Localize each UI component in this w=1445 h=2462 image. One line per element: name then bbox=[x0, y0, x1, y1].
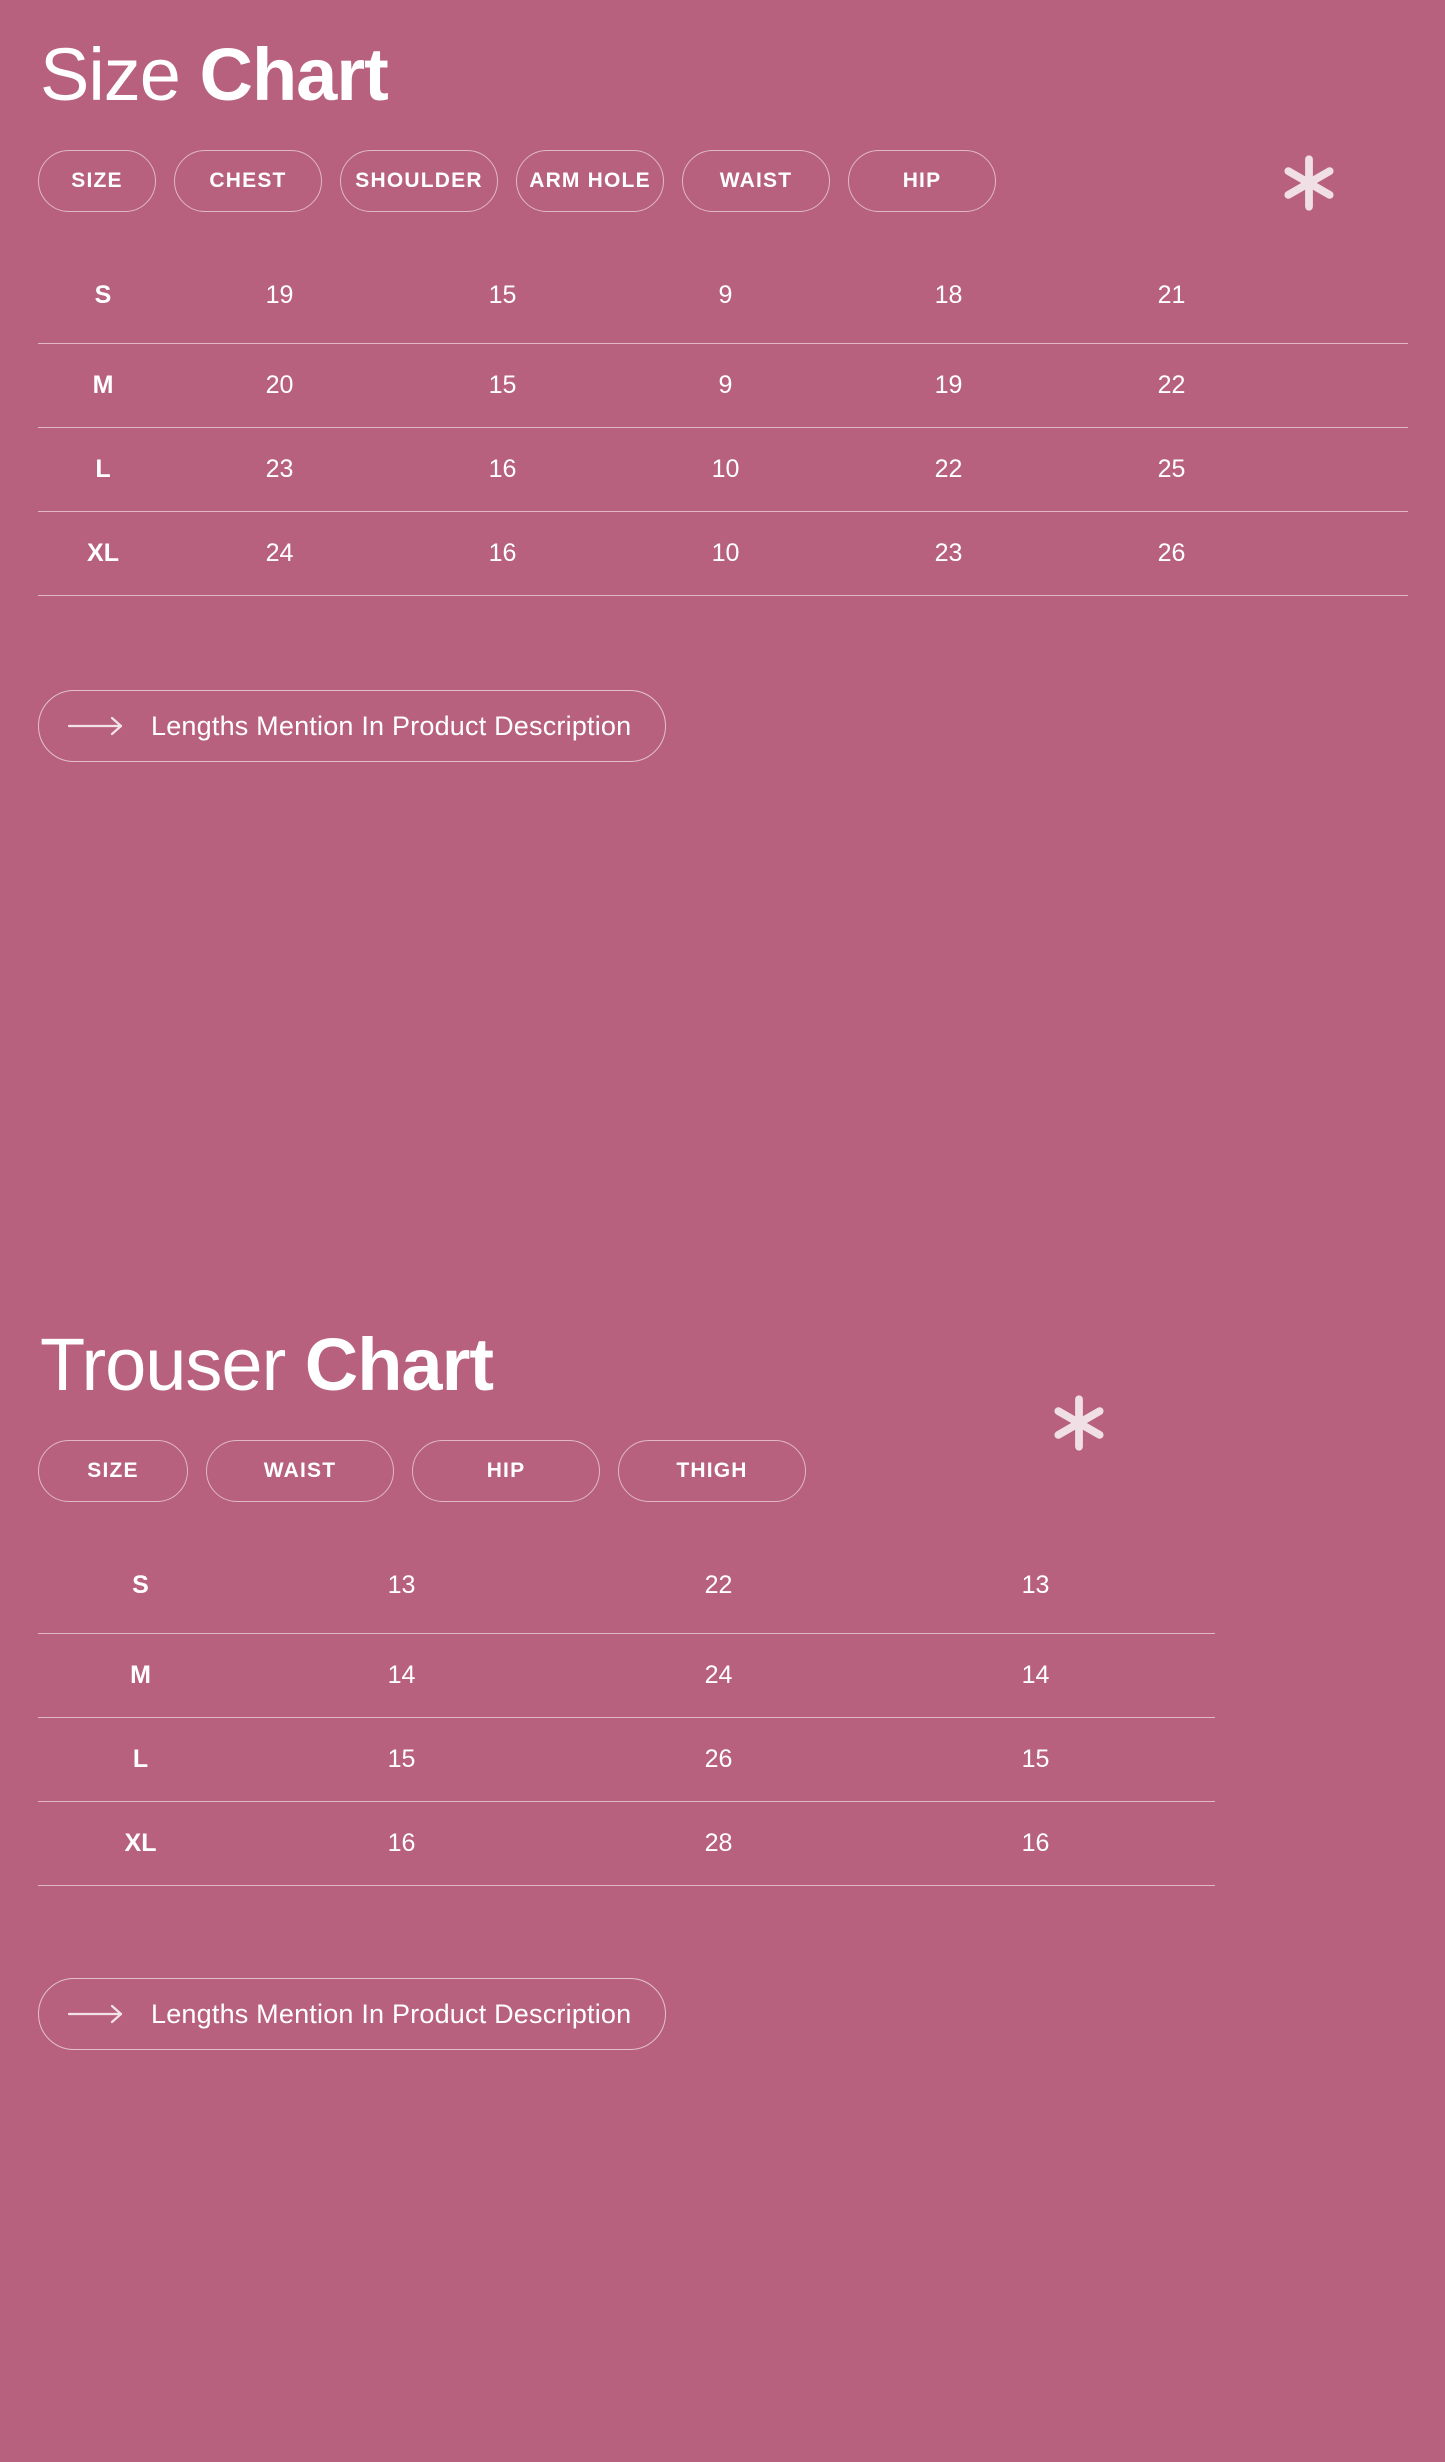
cell-value: 9 bbox=[614, 281, 837, 310]
cell-size: M bbox=[38, 1661, 243, 1690]
arrow-right-icon bbox=[67, 716, 125, 736]
table-row: S132213 bbox=[38, 1538, 1215, 1634]
table-row: M201591922 bbox=[38, 344, 1408, 428]
column-header-size: SIZE bbox=[38, 150, 156, 212]
trouser-chart-table: S132213M142414L152615XL162816 bbox=[0, 1538, 1445, 1886]
cell-value: 24 bbox=[560, 1661, 877, 1690]
size-chart-note-text: Lengths Mention In Product Description bbox=[151, 711, 631, 742]
table-row: XL162816 bbox=[38, 1802, 1215, 1886]
cell-value: 9 bbox=[614, 371, 837, 400]
column-header-size: SIZE bbox=[38, 1440, 188, 1502]
cell-size: S bbox=[38, 281, 168, 310]
cell-size: S bbox=[38, 1571, 243, 1600]
cell-value: 10 bbox=[614, 455, 837, 484]
table-row: L2316102225 bbox=[38, 428, 1408, 512]
arrow-right-icon bbox=[67, 2004, 125, 2024]
page-title: Size Chart bbox=[40, 38, 388, 112]
cell-value: 23 bbox=[168, 455, 391, 484]
table-row: S191591821 bbox=[38, 248, 1408, 344]
cell-value: 19 bbox=[837, 371, 1060, 400]
cell-value: 28 bbox=[560, 1829, 877, 1858]
trouser-chart-heading-row: Trouser Chart bbox=[0, 1290, 1445, 1440]
size-chart-note-wrap: Lengths Mention In Product Description bbox=[0, 690, 1445, 762]
trouser-title: Trouser Chart bbox=[40, 1328, 493, 1402]
trouser-chart-section: Trouser Chart SIZEWAISTHIPTHIGH S132213M… bbox=[0, 1290, 1445, 2050]
page-title-bold: Chart bbox=[200, 33, 388, 116]
column-header-shoulder: SHOULDER bbox=[340, 150, 498, 212]
cell-value: 16 bbox=[391, 455, 614, 484]
size-chart-table: S191591821M201591922L2316102225XL2416102… bbox=[0, 248, 1445, 596]
cell-value: 15 bbox=[243, 1745, 560, 1774]
cell-value: 18 bbox=[837, 281, 1060, 310]
cell-value: 16 bbox=[877, 1829, 1194, 1858]
column-header-hip: HIP bbox=[412, 1440, 600, 1502]
size-chart-section: Size Chart SIZECHESTSHOULDERARM HOLEWAIS… bbox=[0, 0, 1445, 762]
column-header-hip: HIP bbox=[848, 150, 996, 212]
cell-value: 25 bbox=[1060, 455, 1283, 484]
cell-size: XL bbox=[38, 539, 168, 568]
cell-value: 16 bbox=[391, 539, 614, 568]
column-header-waist: WAIST bbox=[682, 150, 830, 212]
cell-value: 15 bbox=[877, 1745, 1194, 1774]
cell-value: 22 bbox=[560, 1571, 877, 1600]
column-header-waist: WAIST bbox=[206, 1440, 394, 1502]
table-row: L152615 bbox=[38, 1718, 1215, 1802]
cell-value: 16 bbox=[243, 1829, 560, 1858]
cell-value: 14 bbox=[243, 1661, 560, 1690]
trouser-chart-column-headers: SIZEWAISTHIPTHIGH bbox=[0, 1440, 1445, 1502]
cell-value: 14 bbox=[877, 1661, 1194, 1690]
cell-value: 19 bbox=[168, 281, 391, 310]
page-title-thin: Size bbox=[40, 33, 180, 116]
cell-value: 26 bbox=[560, 1745, 877, 1774]
cell-value: 23 bbox=[837, 539, 1060, 568]
trouser-title-bold: Chart bbox=[305, 1323, 493, 1406]
cell-size: L bbox=[38, 1745, 243, 1774]
table-row: XL2416102326 bbox=[38, 512, 1408, 596]
cell-value: 13 bbox=[243, 1571, 560, 1600]
asterisk-icon bbox=[1048, 1392, 1110, 1454]
column-header-chest: CHEST bbox=[174, 150, 322, 212]
trouser-title-thin: Trouser bbox=[40, 1323, 285, 1406]
cell-value: 15 bbox=[391, 371, 614, 400]
column-header-arm-hole: ARM HOLE bbox=[516, 150, 664, 212]
trouser-chart-note-text: Lengths Mention In Product Description bbox=[151, 1999, 631, 2030]
cell-value: 13 bbox=[877, 1571, 1194, 1600]
cell-value: 22 bbox=[837, 455, 1060, 484]
cell-size: L bbox=[38, 455, 168, 484]
cell-size: XL bbox=[38, 1829, 243, 1858]
trouser-chart-note[interactable]: Lengths Mention In Product Description bbox=[38, 1978, 666, 2050]
column-header-thigh: THIGH bbox=[618, 1440, 806, 1502]
asterisk-icon bbox=[1278, 152, 1340, 214]
trouser-chart-note-wrap: Lengths Mention In Product Description bbox=[0, 1978, 1445, 2050]
size-chart-heading-row: Size Chart bbox=[0, 0, 1445, 150]
cell-value: 20 bbox=[168, 371, 391, 400]
size-chart-page: Size Chart SIZECHESTSHOULDERARM HOLEWAIS… bbox=[0, 0, 1445, 2462]
cell-value: 26 bbox=[1060, 539, 1283, 568]
size-chart-column-headers: SIZECHESTSHOULDERARM HOLEWAISTHIP bbox=[0, 150, 1445, 212]
cell-value: 24 bbox=[168, 539, 391, 568]
cell-size: M bbox=[38, 371, 168, 400]
cell-value: 21 bbox=[1060, 281, 1283, 310]
cell-value: 22 bbox=[1060, 371, 1283, 400]
size-chart-note[interactable]: Lengths Mention In Product Description bbox=[38, 690, 666, 762]
cell-value: 15 bbox=[391, 281, 614, 310]
table-row: M142414 bbox=[38, 1634, 1215, 1718]
cell-value: 10 bbox=[614, 539, 837, 568]
